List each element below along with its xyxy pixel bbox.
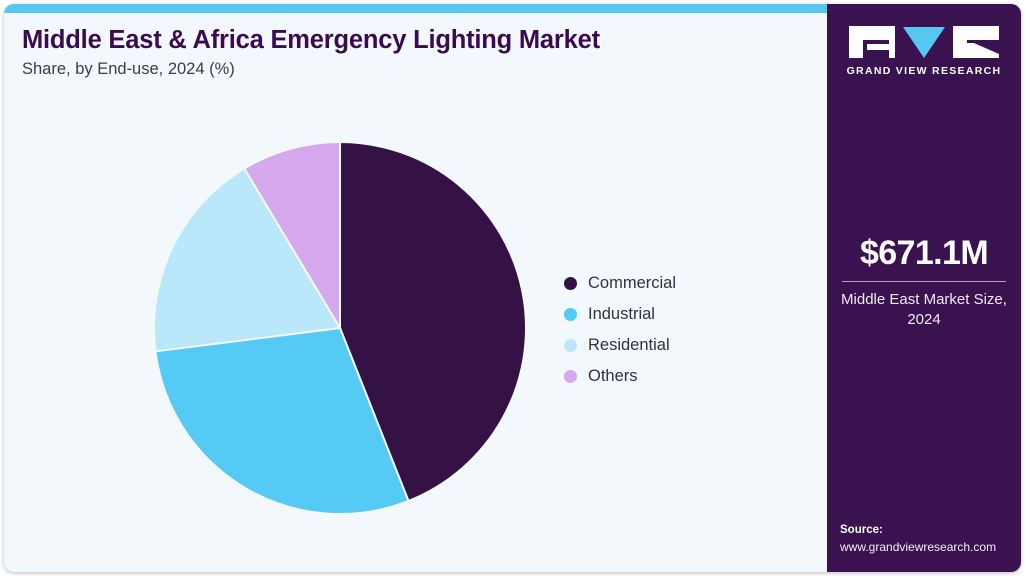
market-size-caption: Middle East Market Size, 2024 xyxy=(835,290,1013,331)
source-label: Source: xyxy=(840,522,1013,539)
legend-swatch-others xyxy=(564,370,577,383)
legend-item-commercial[interactable]: Commercial xyxy=(564,268,676,299)
source-url[interactable]: www.grandviewresearch.com xyxy=(840,539,1013,556)
chart-header: Middle East & Africa Emergency Lighting … xyxy=(22,26,812,80)
gvr-logo-icon xyxy=(849,26,999,58)
chart-area: Commercial Industrial Residential Others xyxy=(4,104,824,572)
chart-card: Middle East & Africa Emergency Lighting … xyxy=(4,4,1021,572)
legend-item-industrial[interactable]: Industrial xyxy=(564,299,676,330)
legend-swatch-residential xyxy=(564,339,577,352)
stat-divider xyxy=(842,281,1006,282)
page-title: Middle East & Africa Emergency Lighting … xyxy=(22,26,812,54)
side-panel: GRAND VIEW RESEARCH $671.1M Middle East … xyxy=(827,4,1021,572)
chart-legend: Commercial Industrial Residential Others xyxy=(564,268,676,392)
legend-swatch-commercial xyxy=(564,277,577,290)
pie-svg xyxy=(154,142,526,514)
page-subtitle: Share, by End-use, 2024 (%) xyxy=(22,60,812,80)
legend-label-residential: Residential xyxy=(588,336,670,355)
legend-label-others: Others xyxy=(588,367,638,386)
stat-block: $671.1M Middle East Market Size, 2024 xyxy=(827,236,1021,330)
legend-label-commercial: Commercial xyxy=(588,274,676,293)
source-block: Source: www.grandviewresearch.com xyxy=(840,522,1013,556)
legend-item-others[interactable]: Others xyxy=(564,361,676,392)
pie-chart xyxy=(154,142,526,514)
legend-label-industrial: Industrial xyxy=(588,305,655,324)
legend-swatch-industrial xyxy=(564,308,577,321)
market-size-value: $671.1M xyxy=(835,236,1013,272)
legend-item-residential[interactable]: Residential xyxy=(564,330,676,361)
brand-name: GRAND VIEW RESEARCH xyxy=(827,65,1021,77)
brand-logo: GRAND VIEW RESEARCH xyxy=(827,26,1021,77)
